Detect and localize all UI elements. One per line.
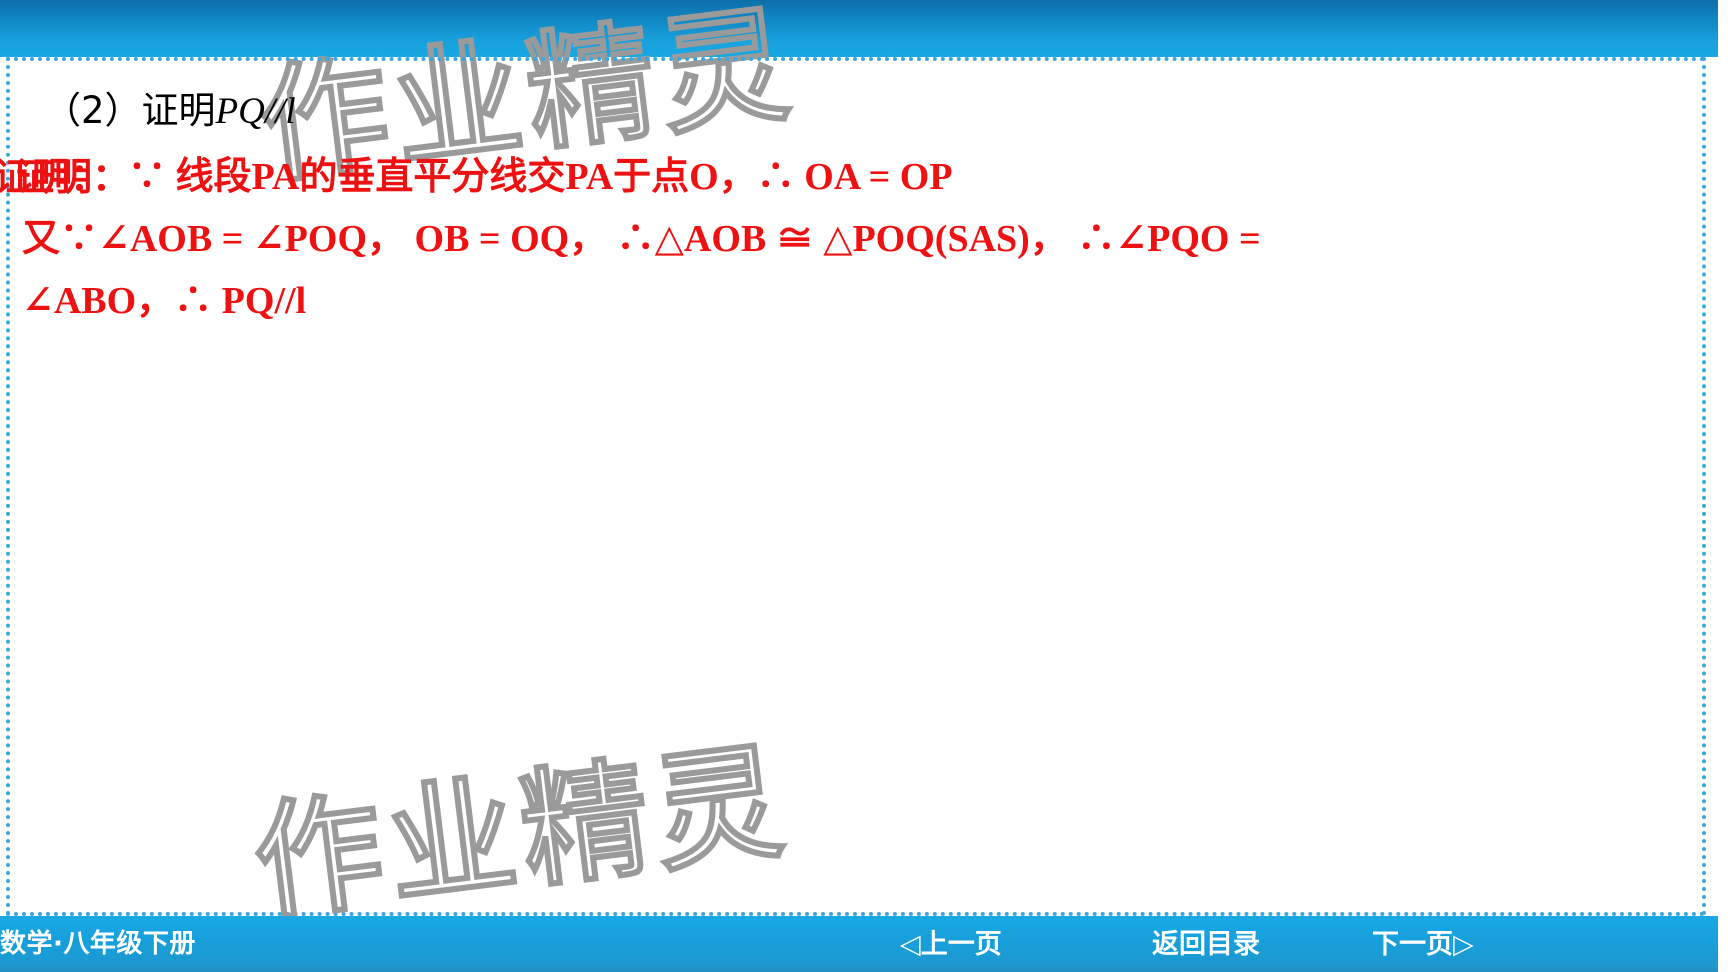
- slide-canvas: 作业精灵 （2）证明PQ//l 证明： 证明： ∵ 线段PA的垂直平分线交PA于…: [0, 0, 1728, 972]
- footer-bar-right-gap: [1718, 916, 1728, 972]
- back-to-menu-button[interactable]: 返回目录: [1152, 922, 1260, 961]
- footer-bar: 数学·八年级下册 ◁上一页 返回目录 下一页▷: [0, 916, 1728, 972]
- question-expression: PQ//l: [216, 91, 296, 132]
- proof-line-3: ∠ABO，∴ PQ//l: [0, 271, 1700, 333]
- prev-page-button[interactable]: ◁上一页: [900, 922, 1002, 961]
- slide-content-area: （2）证明PQ//l 证明： 证明： ∵ 线段PA的垂直平分线交PA于点O，∴ …: [0, 57, 1712, 916]
- question-label: （2）证明: [44, 89, 216, 132]
- proof-block: 证明： 证明： ∵ 线段PA的垂直平分线交PA于点O，∴ OA = OP 又∵∠…: [0, 147, 1700, 332]
- proof-line-3-text: ∠ABO，∴ PQ//l: [22, 280, 306, 322]
- proof-line-1-overlap-b: 证明：: [16, 147, 130, 209]
- footer-title: 数学·八年级下册: [0, 923, 196, 960]
- proof-line-1-text: ∵ 线段PA的垂直平分线交PA于点O，∴ OA = OP: [128, 147, 953, 209]
- top-banner-right-gap: [1718, 0, 1728, 57]
- proof-line-2-text: 又∵∠AOB = ∠POQ， OB = OQ， ∴△AOB ≅ △POQ(SAS…: [22, 218, 1261, 260]
- proof-line-1: 证明： 证明： ∵ 线段PA的垂直平分线交PA于点O，∴ OA = OP: [0, 147, 1700, 209]
- next-page-button[interactable]: 下一页▷: [1372, 922, 1474, 961]
- question-line: （2）证明PQ//l: [44, 80, 296, 134]
- watermark-bottom: 作业精灵: [243, 697, 798, 946]
- proof-line-2: 又∵∠AOB = ∠POQ， OB = OQ， ∴△AOB ≅ △POQ(SAS…: [0, 209, 1700, 271]
- top-banner-bar: [0, 0, 1728, 57]
